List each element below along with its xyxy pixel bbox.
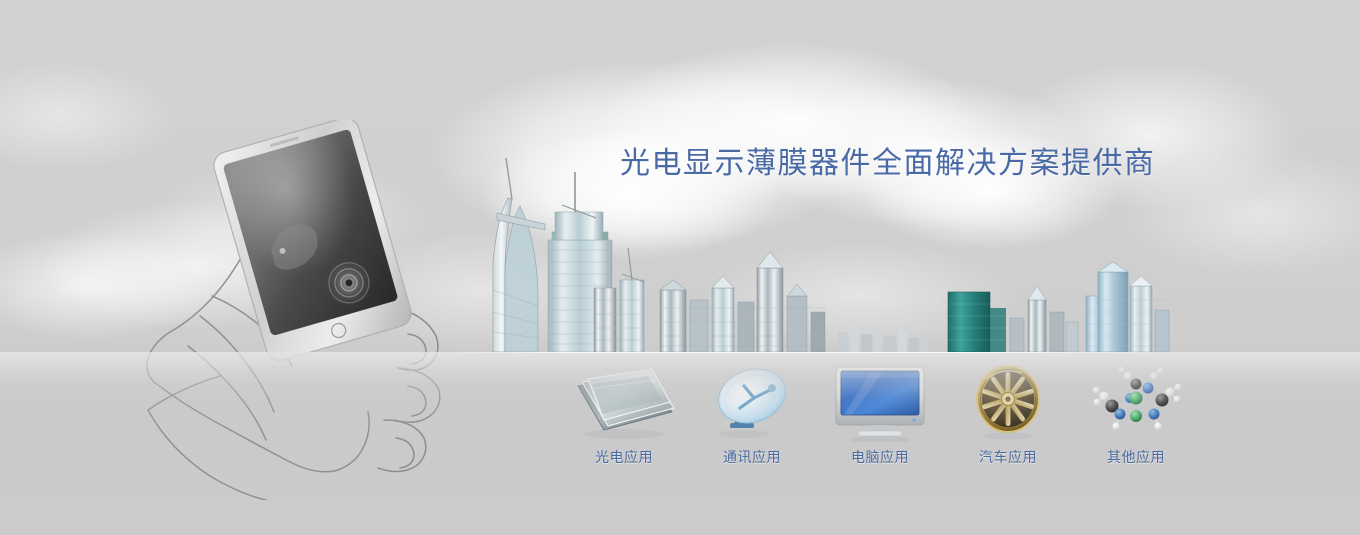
smartphone — [211, 120, 415, 364]
midtown-cluster — [660, 252, 825, 352]
sail-tower — [493, 158, 545, 352]
distant-low-rise — [838, 326, 929, 352]
right-city-cluster — [948, 262, 1169, 352]
ground-plane — [0, 352, 1360, 535]
page-title: 光电显示薄膜器件全面解决方案提供商 — [620, 138, 1156, 182]
hero-banner: 光电显示薄膜器件全面解决方案提供商 — [0, 0, 1360, 535]
horizon-line — [430, 352, 1190, 353]
